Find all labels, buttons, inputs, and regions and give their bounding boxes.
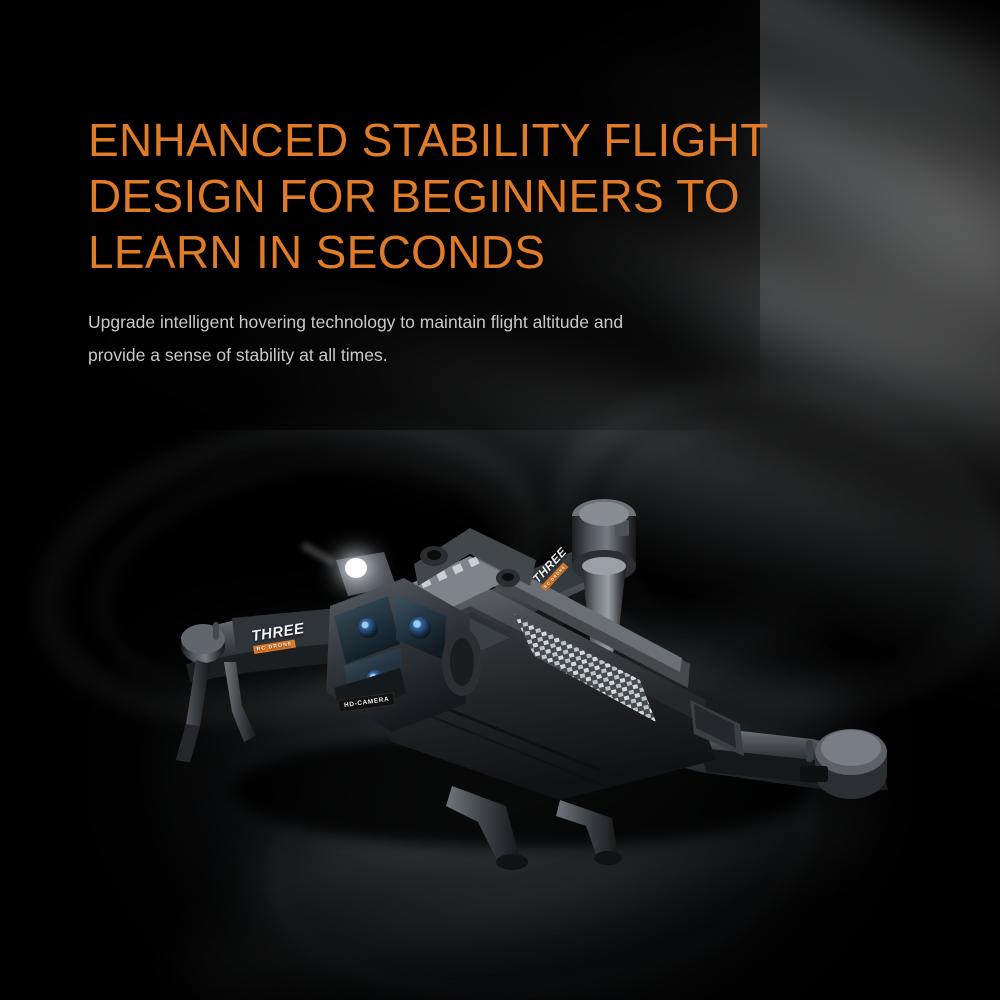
page-subtitle: Upgrade intelligent hovering technology … bbox=[88, 306, 663, 372]
page-title: ENHANCED STABILITY FLIGHT DESIGN FOR BEG… bbox=[88, 112, 788, 280]
marketing-copy-block: ENHANCED STABILITY FLIGHT DESIGN FOR BEG… bbox=[88, 112, 788, 372]
